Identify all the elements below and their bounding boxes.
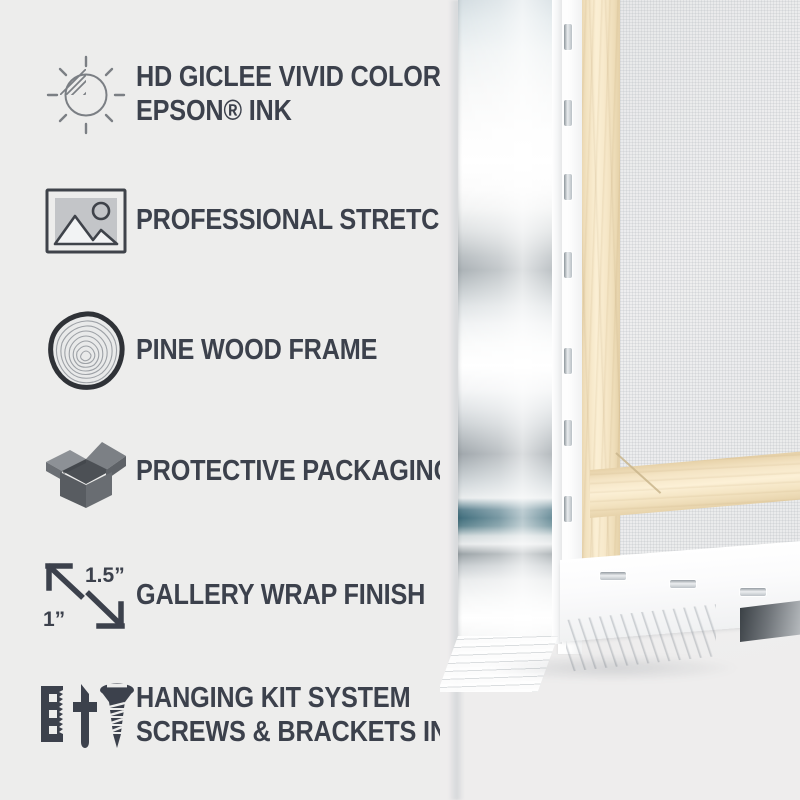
feature-label-line1: HD GICLEE VIVID COLORS bbox=[136, 61, 457, 93]
canvas-face-sheen bbox=[458, 0, 556, 642]
depth-arrows-icon: 1.5” 1” bbox=[36, 558, 136, 634]
feature-label-line2: EPSON® INK bbox=[136, 95, 457, 129]
picture-frame-icon bbox=[36, 186, 136, 256]
canvas-corner-detail-photo bbox=[440, 0, 800, 800]
depth-bottom-label: 1” bbox=[43, 608, 65, 631]
feature-label-hd-giclee: HD GICLEE VIVID COLORS EPSON® INK bbox=[136, 61, 457, 129]
staple bbox=[740, 588, 766, 596]
staple bbox=[564, 174, 572, 200]
feature-label-gallery-wrap-finish: GALLERY WRAP FINISH bbox=[136, 579, 425, 613]
staple bbox=[564, 420, 572, 446]
feature-label-pine-wood-frame: PINE WOOD FRAME bbox=[136, 334, 377, 368]
canvas-corner-edge bbox=[552, 0, 562, 644]
feature-row-gallery-wrap-finish: 1.5” 1” GALLERY WRAP FINISH bbox=[36, 558, 468, 634]
feature-label-protective-packaging: PROTECTIVE PACKAGING bbox=[136, 455, 453, 489]
feature-label-line1: GALLERY WRAP FINISH bbox=[136, 579, 425, 611]
feature-row-hd-giclee: HD GICLEE VIVID COLORS EPSON® INK bbox=[36, 52, 505, 138]
feature-label-line1: HANGING KIT SYSTEM bbox=[136, 682, 410, 714]
staple bbox=[564, 496, 572, 522]
staple bbox=[600, 572, 626, 580]
feature-label-line1: PROTECTIVE PACKAGING bbox=[136, 455, 453, 487]
staple bbox=[670, 580, 696, 588]
product-drop-shadow bbox=[450, 648, 800, 688]
staple bbox=[564, 348, 572, 374]
open-box-icon bbox=[36, 432, 136, 512]
infographic-canvas: HD GICLEE VIVID COLORS EPSON® INK PROFES… bbox=[0, 0, 800, 800]
tree-rings-icon bbox=[36, 310, 136, 392]
feature-row-pine-wood-frame: PINE WOOD FRAME bbox=[36, 310, 413, 392]
feature-row-protective-packaging: PROTECTIVE PACKAGING bbox=[36, 432, 500, 512]
sun-icon bbox=[36, 52, 136, 138]
feature-label-line1: PINE WOOD FRAME bbox=[136, 334, 377, 366]
staple bbox=[564, 24, 572, 50]
staple bbox=[564, 252, 572, 278]
print-edge-sliver bbox=[740, 599, 800, 642]
staple bbox=[564, 100, 572, 126]
depth-top-label: 1.5” bbox=[85, 564, 125, 587]
hardware-icon bbox=[36, 680, 136, 752]
